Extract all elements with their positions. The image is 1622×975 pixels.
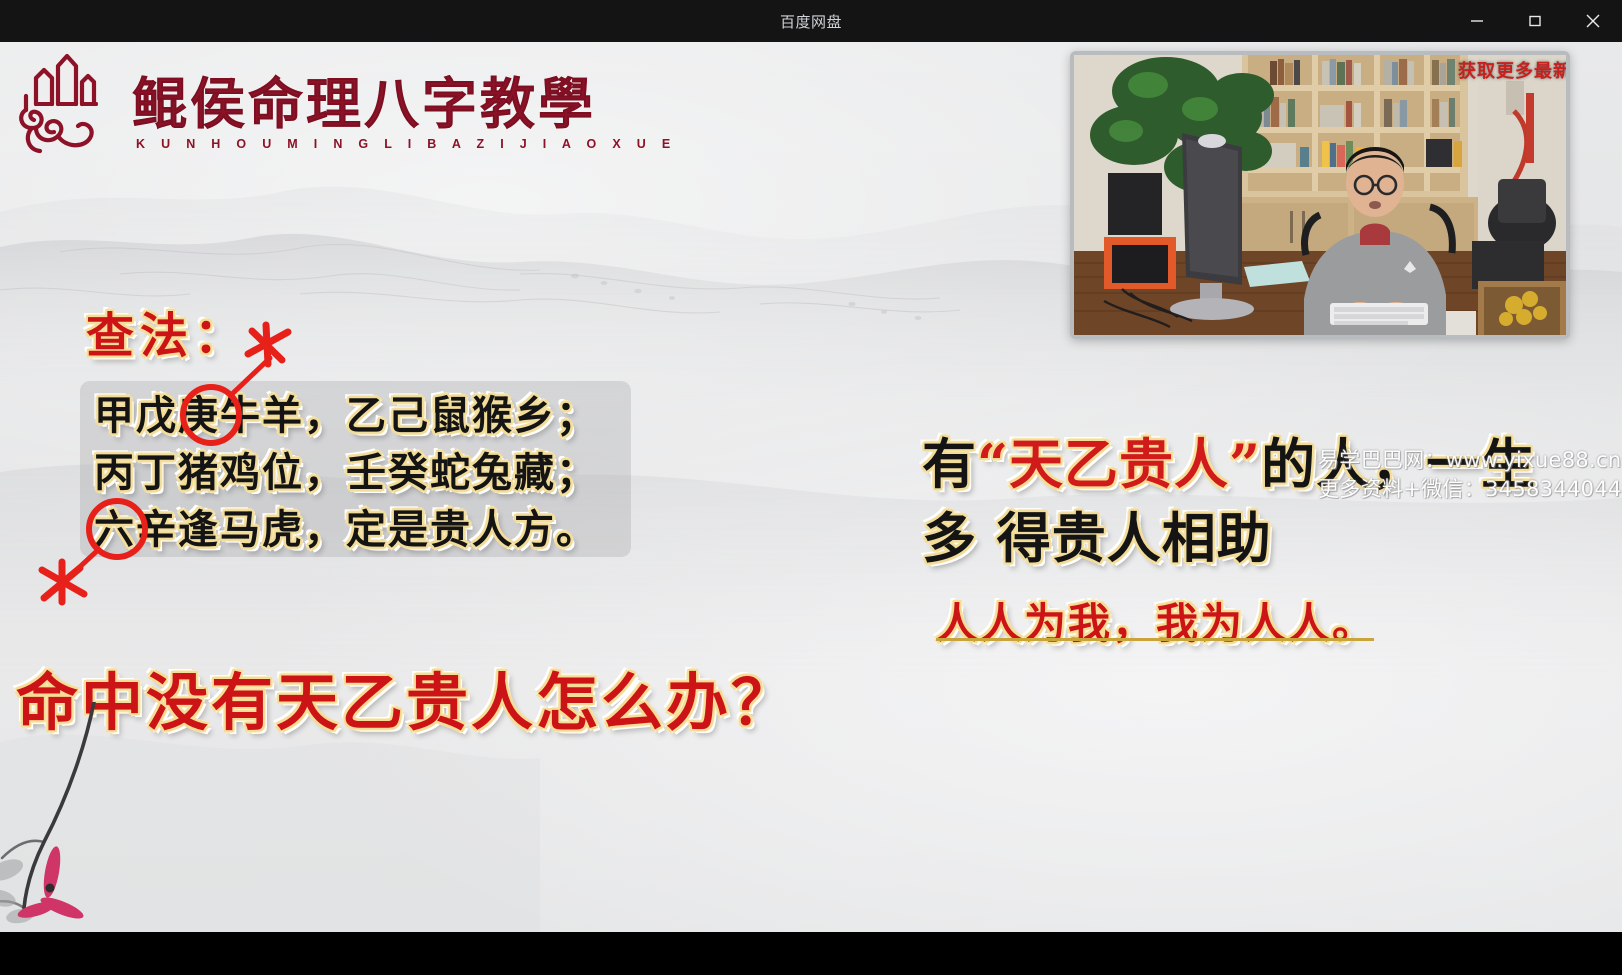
player-bottom-bar xyxy=(0,932,1622,975)
mountain-ruyi-logo-icon xyxy=(14,52,122,157)
poem-line-3: 六辛逢马虎，定是贵人方。 xyxy=(94,502,598,557)
right-line1-quoted-term: “天乙贵人” xyxy=(977,432,1261,496)
right-motto-text: 人人为我，我为人人。 xyxy=(936,590,1376,651)
maximize-icon xyxy=(1525,11,1545,31)
page-heading-chafa: 查法： xyxy=(86,296,248,366)
right-text-line-2: 多 得贵人相助 xyxy=(922,494,1272,573)
webcam-promo-text: 获取更多最新 xyxy=(1458,57,1566,83)
close-button[interactable] xyxy=(1564,0,1622,42)
logo-pinyin: K U N H O U M I N G L I B A Z I J I A O … xyxy=(132,137,676,151)
star-mark-bottom xyxy=(42,562,84,602)
window-controls xyxy=(1448,0,1622,42)
video-slide-canvas[interactable]: 鲲侯命理八字教學 K U N H O U M I N G L I B A Z I… xyxy=(0,42,1622,932)
window-title: 百度网盘 xyxy=(780,11,842,32)
presenter-webcam-overlay[interactable]: 获取更多最新 xyxy=(1070,51,1570,339)
right-line1-prefix: 有 xyxy=(922,432,977,496)
minimize-button[interactable] xyxy=(1448,0,1506,42)
maximize-button[interactable] xyxy=(1506,0,1564,42)
title-bar[interactable]: 百度网盘 xyxy=(0,0,1622,42)
close-icon xyxy=(1582,10,1604,32)
watermark-line-2: 更多资料+微信：3458344044 xyxy=(1318,475,1622,504)
logo-wordmark: 鲲侯命理八字教學 K U N H O U M I N G L I B A Z I… xyxy=(132,75,676,157)
webcam-video-frame: 获取更多最新 xyxy=(1074,55,1566,335)
app-window: 百度网盘 xyxy=(0,0,1622,975)
right-motto-underline xyxy=(936,638,1374,641)
star-mark-top xyxy=(248,325,288,364)
bottom-question-text: 命中没有天乙贵人怎么办？ xyxy=(16,652,796,742)
minimize-icon xyxy=(1467,11,1487,31)
poem-text-block: 甲戊庚牛羊，乙己鼠猴乡； 丙丁猪鸡位，壬癸蛇兔藏； 六辛逢马虎，定是贵人方。 xyxy=(94,388,598,557)
poem-line-2: 丙丁猪鸡位，壬癸蛇兔藏； xyxy=(94,445,598,500)
watermark-line-1: 易学巴巴网：www.yixue88.cn xyxy=(1318,446,1622,475)
brand-logo: 鲲侯命理八字教學 K U N H O U M I N G L I B A Z I… xyxy=(14,52,676,157)
presenter-scene-illustration xyxy=(1074,55,1566,335)
poem-line-1: 甲戊庚牛羊，乙己鼠猴乡； xyxy=(94,388,598,443)
logo-chinese-name: 鲲侯命理八字教學 xyxy=(132,75,676,133)
site-watermark: 易学巴巴网：www.yixue88.cn 更多资料+微信：3458344044 xyxy=(1318,446,1622,504)
